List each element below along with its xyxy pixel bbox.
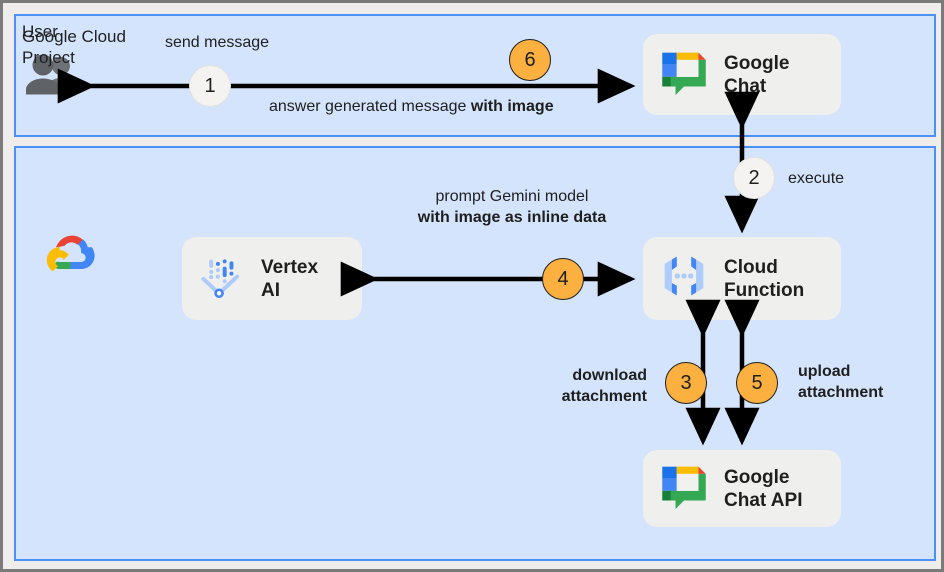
google-chat-icon xyxy=(655,457,713,520)
step-badge-2: 2 xyxy=(733,157,775,199)
edge-label-prompt-gemini: prompt Gemini model with image as inline… xyxy=(411,186,613,228)
edge-label-send-message: send message xyxy=(165,32,269,53)
node-google-chat[interactable]: Google Chat xyxy=(643,34,841,115)
diagram-canvas: User Google Chat Google Cloud Project xyxy=(0,0,944,572)
edge-label-download-attachment: download attachment xyxy=(503,365,647,407)
step-badge-5: 5 xyxy=(736,362,778,404)
vertex-ai-icon xyxy=(194,248,250,309)
panel-google-cloud-project-title: Google Cloud Project xyxy=(22,26,126,68)
edge-label-execute: execute xyxy=(788,168,844,189)
edge-label-upload-attachment: upload attachment xyxy=(798,361,928,403)
google-chat-icon xyxy=(655,43,713,106)
step-badge-1: 1 xyxy=(189,65,231,107)
node-cloud-function-label: Cloud Function xyxy=(724,256,804,302)
node-google-chat-label: Google Chat xyxy=(724,52,789,98)
edge-label-answer-bold: with image xyxy=(471,98,554,115)
node-google-chat-api-label: Google Chat API xyxy=(724,466,802,512)
node-cloud-function[interactable]: Cloud Function xyxy=(643,237,841,320)
edge-label-answer-generated-message: answer generated message with image xyxy=(269,96,554,117)
node-google-chat-api[interactable]: Google Chat API xyxy=(643,450,841,527)
node-vertex-ai[interactable]: Vertex AI xyxy=(182,237,362,320)
step-badge-6: 6 xyxy=(509,39,551,81)
edge-label-answer-regular: answer generated message xyxy=(269,98,471,115)
edge-label-prompt-line1: prompt Gemini model xyxy=(411,186,613,207)
step-badge-4: 4 xyxy=(542,258,584,300)
node-vertex-ai-label: Vertex AI xyxy=(261,256,318,302)
edge-label-prompt-line2: with image as inline data xyxy=(411,207,613,228)
google-cloud-icon xyxy=(39,227,102,284)
cloud-function-icon xyxy=(655,247,713,310)
step-badge-3: 3 xyxy=(665,362,707,404)
